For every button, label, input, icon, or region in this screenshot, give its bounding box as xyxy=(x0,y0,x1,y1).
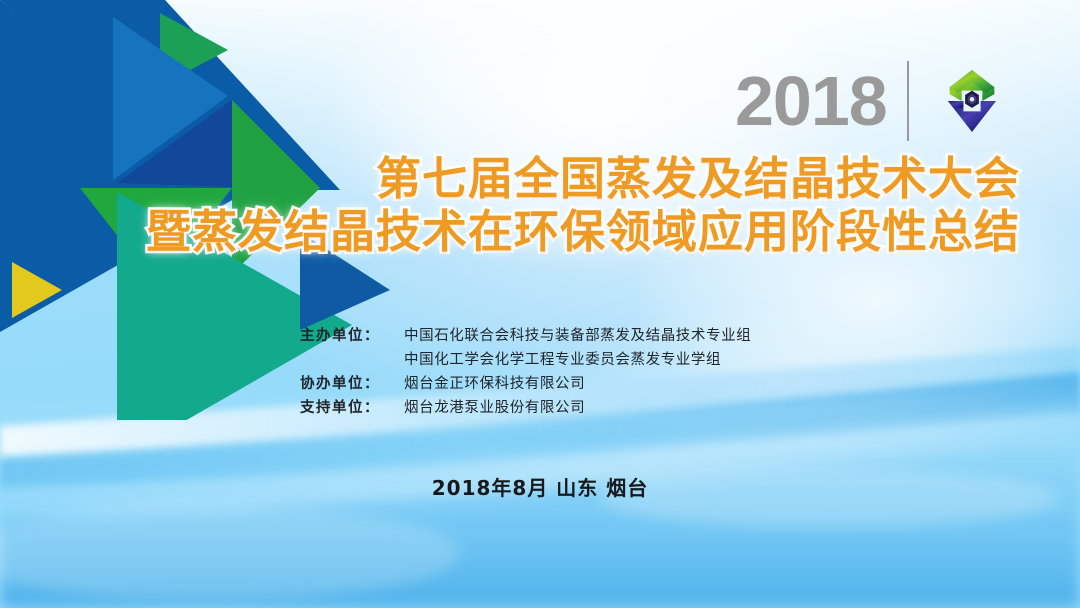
organizers-list: 主办单位： 中国石化联合会科技与装备部蒸发及结晶技术专业组 主办单位： 中国化工… xyxy=(300,324,751,420)
title-line-1: 第七届全国蒸发及结晶技术大会 xyxy=(0,152,1020,205)
organizer-label: 支持单位： xyxy=(300,396,404,420)
organizer-label: 协办单位： xyxy=(300,372,404,396)
hexagon-arrow-logo-icon xyxy=(929,58,1015,144)
conference-poster: 2018 xyxy=(0,0,1080,608)
date-location-bar: 2018年8月 山东 烟台 xyxy=(0,472,1080,501)
vertical-divider xyxy=(907,61,909,141)
organizer-value: 中国石化联合会科技与装备部蒸发及结晶技术专业组 xyxy=(404,324,751,348)
title-line-2: 暨蒸发结晶技术在环保领域应用阶段性总结 xyxy=(0,205,1020,258)
year-logo-group: 2018 xyxy=(735,58,1015,144)
year-label: 2018 xyxy=(735,66,887,136)
organizer-value: 烟台龙港泵业股份有限公司 xyxy=(404,396,585,420)
organizer-label: 主办单位： xyxy=(300,324,404,348)
page-title: 第七届全国蒸发及结晶技术大会 暨蒸发结晶技术在环保领域应用阶段性总结 xyxy=(0,152,1020,258)
organizer-value: 烟台金正环保科技有限公司 xyxy=(404,372,585,396)
organizer-row: 协办单位： 烟台金正环保科技有限公司 xyxy=(300,372,751,396)
organizer-value: 中国化工学会化学工程专业委员会蒸发专业学组 xyxy=(404,348,721,372)
organizer-row: 支持单位： 烟台龙港泵业股份有限公司 xyxy=(300,396,751,420)
organizer-row: 主办单位： 中国石化联合会科技与装备部蒸发及结晶技术专业组 xyxy=(300,324,751,348)
organizer-row: 主办单位： 中国化工学会化学工程专业委员会蒸发专业学组 xyxy=(300,348,751,372)
date-location-text: 2018年8月 山东 烟台 xyxy=(432,476,649,500)
